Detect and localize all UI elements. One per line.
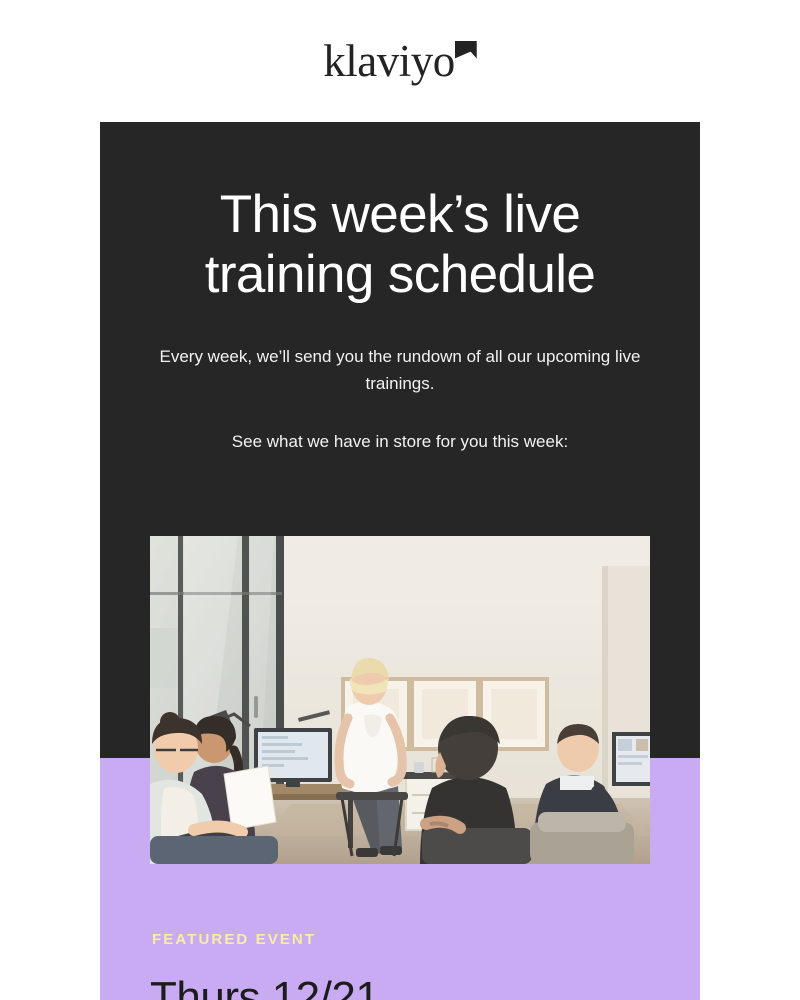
hero-paragraph-1: Every week, we’ll send you the rundown o… [100,343,700,398]
email-header: klaviyo [0,0,800,122]
hero-headline: This week’s live training schedule [100,122,700,305]
email-canvas: klaviyo This week’s live training schedu… [0,0,800,1000]
featured-event-eyebrow: FEATURED EVENT [152,932,316,947]
featured-event-title: Thurs 12/21 [150,974,379,1000]
klaviyo-wordmark: klaviyo [323,39,454,84]
klaviyo-logo[interactable]: klaviyo [323,39,476,84]
office-meeting-illustration [150,536,650,864]
klaviyo-flag-icon [455,41,477,59]
hero-paragraph-2: See what we have in store for you this w… [100,428,700,456]
office-meeting-photo [150,536,650,864]
